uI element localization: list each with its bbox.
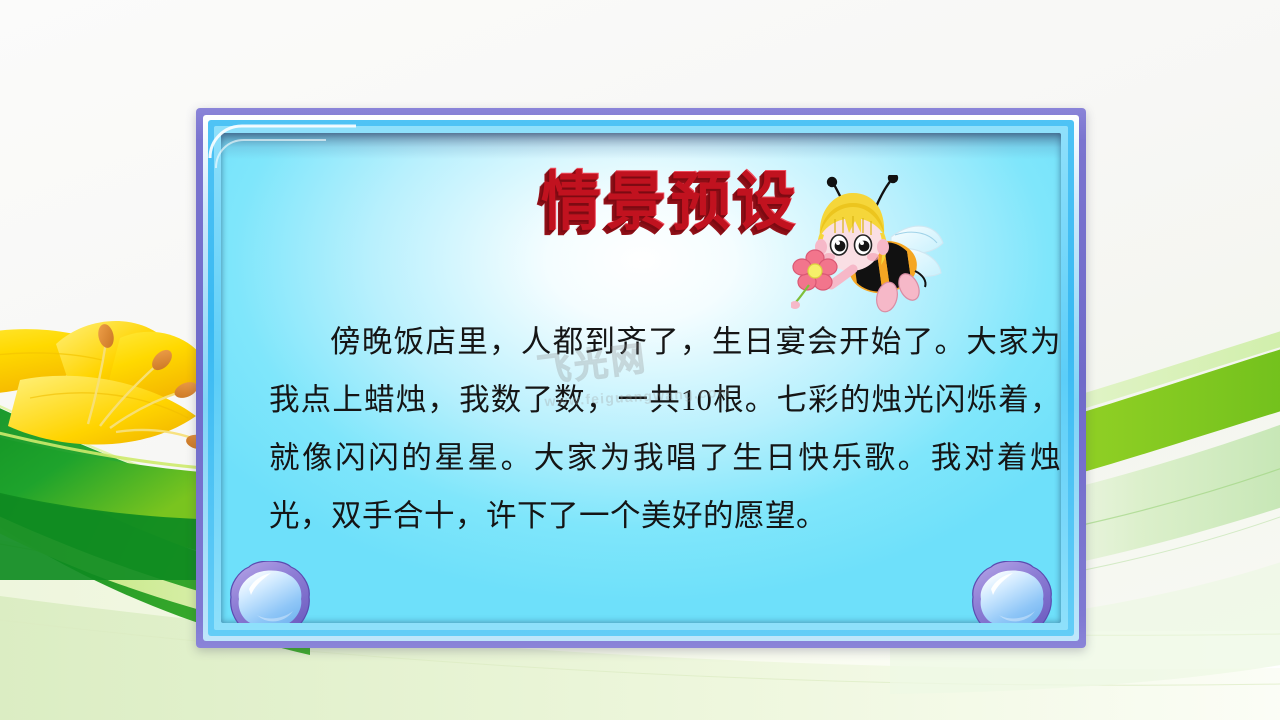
frame-band-inner: 情景预设 [214, 126, 1068, 630]
frame-band-mid: 情景预设 [208, 120, 1074, 636]
slide-content-area: 情景预设 [221, 133, 1061, 623]
title-row: 情景预设 [221, 163, 1061, 293]
glossy-hexagon-gem-right [969, 561, 1055, 623]
glossy-hexagon-gem-left [227, 561, 313, 623]
slide-canvas: 情景预设 [0, 0, 1280, 720]
inner-top-shadow [221, 133, 1061, 159]
page-title: 情景预设 [541, 171, 800, 235]
frame-band-outer: 情景预设 [203, 115, 1079, 641]
decorative-frame: 情景预设 [196, 108, 1086, 648]
cartoon-bee-icon [791, 175, 951, 325]
body-paragraph: 傍晚饭店里，人都到齐了，生日宴会开始了。大家为我点上蜡烛，我数了数，一共10根。… [269, 313, 1061, 545]
